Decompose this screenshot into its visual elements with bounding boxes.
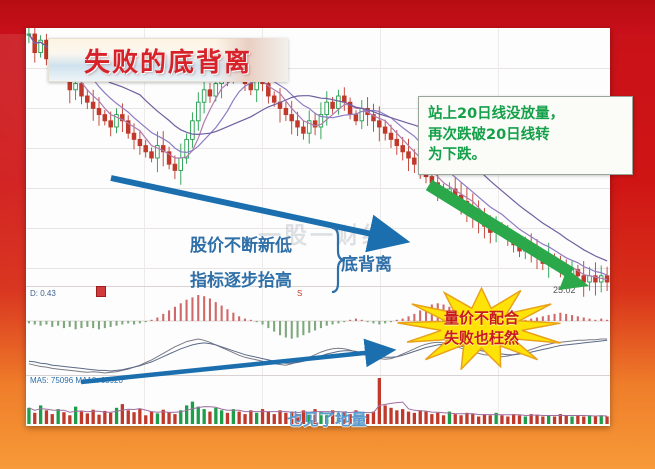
price-downtrend-arrow	[111, 178, 381, 236]
decline-arrow	[429, 185, 589, 290]
stock-chart-panel	[26, 28, 610, 426]
divergence-brace	[332, 228, 345, 292]
chart-canvas	[26, 28, 610, 426]
screenshot-root: 失败的底背离 站上20日线没放量， 再次跌破20日线转 为下跌。 股价不断新低 …	[0, 0, 655, 469]
annotation-overlay	[26, 28, 610, 426]
indicator-uptrend-arrow	[81, 352, 374, 382]
